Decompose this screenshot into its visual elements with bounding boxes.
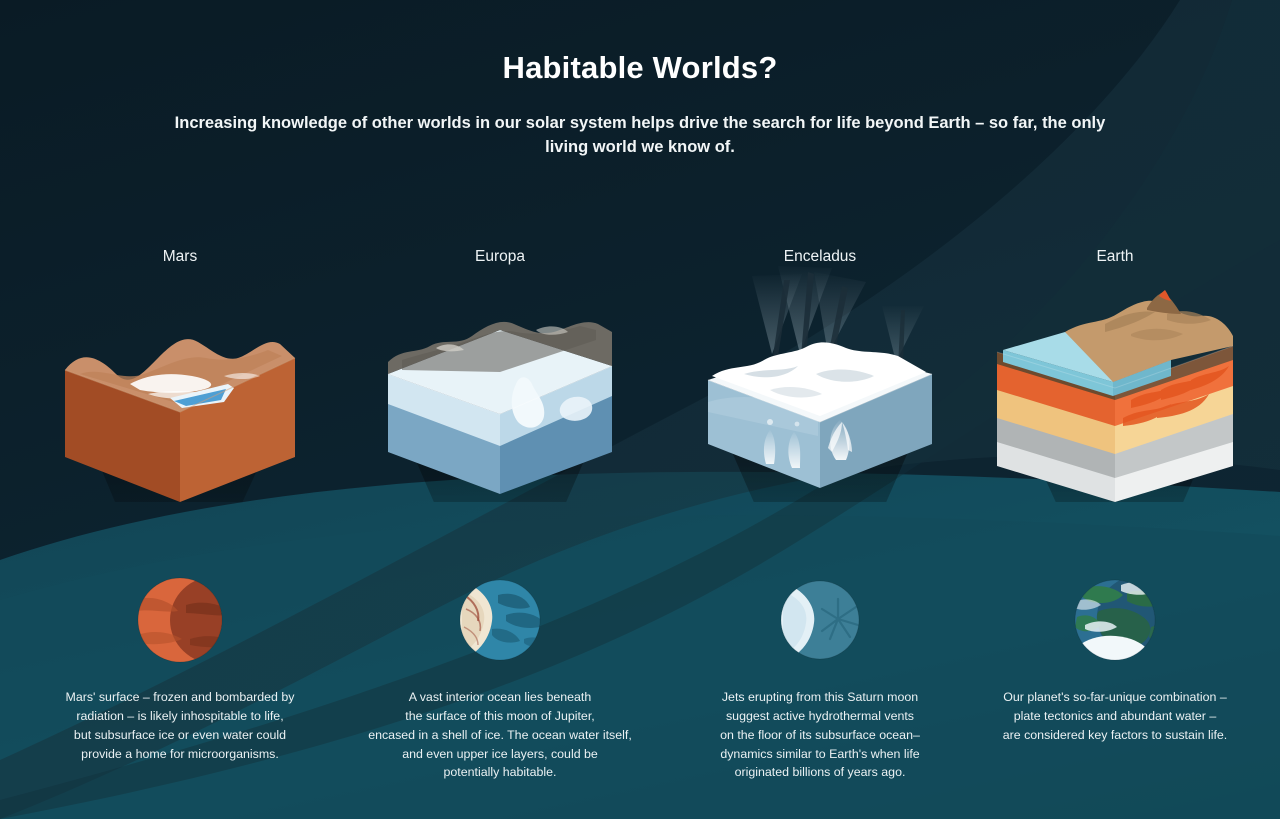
europa-globe-icon — [340, 565, 660, 675]
infographic-root: Habitable Worlds? Increasing knowledge o… — [0, 0, 1280, 819]
column-enceladus: Enceladus — [660, 0, 980, 819]
enceladus-globe-icon — [660, 565, 980, 675]
europa-cross-section — [340, 262, 660, 502]
mars-globe-icon — [20, 565, 340, 675]
earth-cross-section — [955, 262, 1275, 502]
column-caption-europa: A vast interior ocean lies beneath the s… — [340, 688, 660, 782]
column-europa: Europa — [340, 0, 660, 819]
mars-cross-section — [20, 262, 340, 502]
column-mars: Mars — [20, 0, 340, 819]
column-caption-enceladus: Jets erupting from this Saturn moon sugg… — [660, 688, 980, 782]
column-earth: Earth — [955, 0, 1275, 819]
column-caption-mars: Mars' surface – frozen and bombarded by … — [20, 688, 340, 763]
column-caption-earth: Our planet's so-far-unique combination –… — [955, 688, 1275, 745]
earth-globe-icon — [955, 565, 1275, 675]
enceladus-cross-section — [660, 262, 980, 502]
